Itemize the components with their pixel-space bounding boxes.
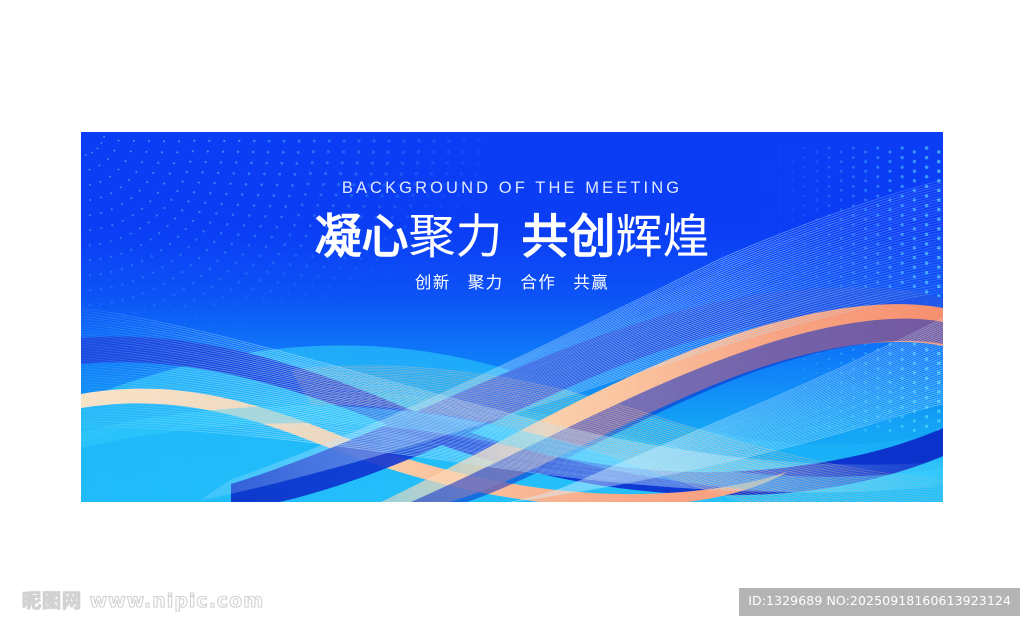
headline-part2-strong: 共创 bbox=[522, 210, 616, 265]
subhead-word-2: 聚力 bbox=[468, 275, 504, 292]
footer-watermark-strip: 昵图网 www.nipic.com ID:1329689 NO:20250918… bbox=[0, 580, 1024, 637]
image-id-badge: ID:1329689 NO:20250918160613923124 bbox=[739, 588, 1020, 616]
subhead-word-4: 共赢 bbox=[573, 275, 609, 292]
headline-part1-strong: 凝心 bbox=[315, 210, 409, 265]
headline-part1-light: 聚力 bbox=[409, 210, 503, 265]
banner-subhead: 创新聚力合作共赢 bbox=[81, 275, 943, 292]
banner-text-block: BACKGROUND OF THE MEETING 凝心聚力共创辉煌 创新聚力合… bbox=[81, 180, 943, 292]
banner-eyebrow-text: BACKGROUND OF THE MEETING bbox=[81, 180, 943, 197]
wave-ribbon-artwork bbox=[81, 132, 943, 502]
halftone-dots-topleft-decoration bbox=[81, 132, 491, 341]
nipic-watermark-logo: 昵图网 www.nipic.com bbox=[22, 592, 264, 611]
banner-headline: 凝心聚力共创辉煌 bbox=[81, 213, 943, 263]
conference-banner-artboard: BACKGROUND OF THE MEETING 凝心聚力共创辉煌 创新聚力合… bbox=[81, 132, 943, 502]
subhead-word-3: 合作 bbox=[521, 275, 557, 292]
headline-part2-light: 辉煌 bbox=[616, 210, 710, 265]
subhead-word-1: 创新 bbox=[415, 275, 451, 292]
halftone-dots-right-decoration bbox=[751, 142, 943, 432]
